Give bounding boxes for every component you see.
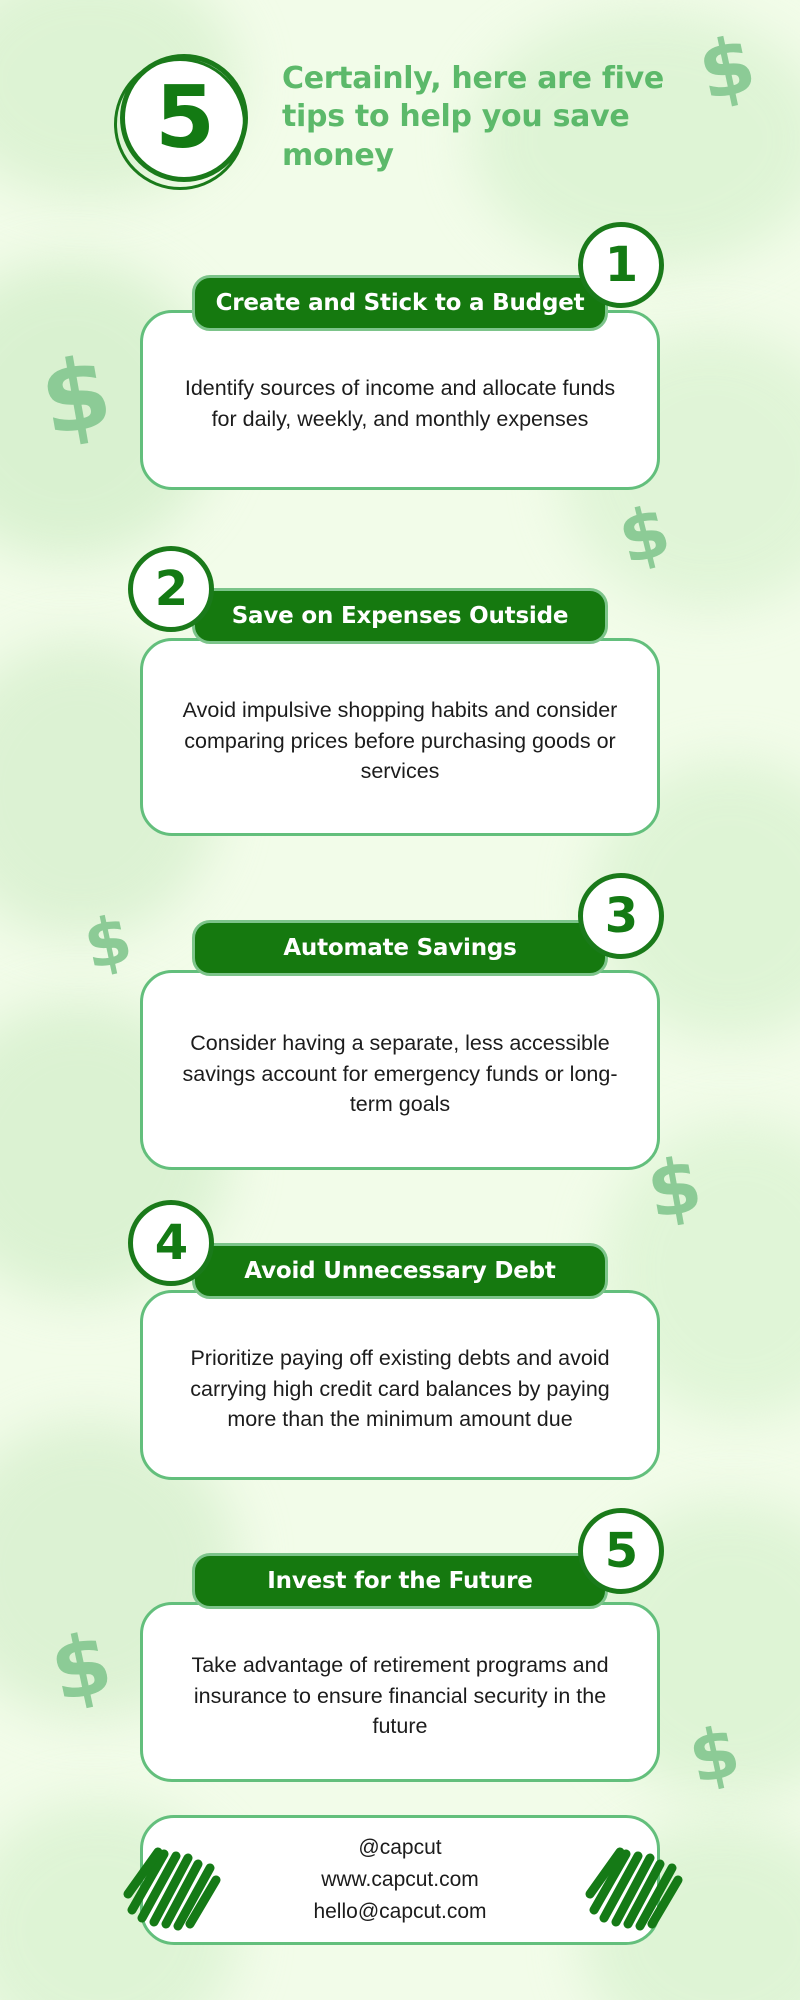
footer-website[interactable]: www.capcut.com: [321, 1864, 479, 1896]
tip-number-badge-1: 1: [578, 222, 664, 308]
footer-email[interactable]: hello@capcut.com: [313, 1896, 486, 1928]
tip-title-2: Save on Expenses Outside: [232, 603, 569, 629]
tip-header-pill-4[interactable]: Avoid Unnecessary Debt: [192, 1243, 608, 1299]
tip-badge-number-3: 3: [578, 873, 664, 959]
tip-badge-number-2: 2: [128, 546, 214, 632]
tip-body-text-5: Take advantage of retirement programs an…: [173, 1650, 627, 1742]
tip-number-badge-3: 3: [578, 873, 664, 959]
tip-body-text-3: Consider having a separate, less accessi…: [173, 1028, 627, 1120]
footer-handle[interactable]: @capcut: [358, 1832, 441, 1864]
tip-title-1: Create and Stick to a Budget: [216, 290, 585, 316]
tip-body-card-1: Identify sources of income and allocate …: [140, 310, 660, 490]
header: 5 Certainly, here are five tips to help …: [110, 48, 730, 208]
tip-number-badge-4: 4: [128, 1200, 214, 1286]
tip-body-card-3: Consider having a separate, less accessi…: [140, 970, 660, 1170]
tip-body-card-2: Avoid impulsive shopping habits and cons…: [140, 638, 660, 836]
tip-number-badge-5: 5: [578, 1508, 664, 1594]
tip-body-card-4: Prioritize paying off existing debts and…: [140, 1290, 660, 1480]
tip-header-pill-2[interactable]: Save on Expenses Outside: [192, 588, 608, 644]
tip-title-5: Invest for the Future: [267, 1568, 532, 1594]
footer-contact-card: @capcut www.capcut.com hello@capcut.com: [140, 1815, 660, 1945]
tip-badge-number-4: 4: [128, 1200, 214, 1286]
tip-title-3: Automate Savings: [283, 935, 516, 961]
tip-badge-number-1: 1: [578, 222, 664, 308]
page-title: Certainly, here are five tips to help yo…: [282, 60, 712, 175]
tip-header-pill-1[interactable]: Create and Stick to a Budget: [192, 275, 608, 331]
tip-number-badge-2: 2: [128, 546, 214, 632]
tip-header-pill-3[interactable]: Automate Savings: [192, 920, 608, 976]
tip-body-card-5: Take advantage of retirement programs an…: [140, 1602, 660, 1782]
hero-badge-number: 5: [120, 54, 248, 182]
tip-body-text-2: Avoid impulsive shopping habits and cons…: [173, 695, 627, 787]
tip-body-text-4: Prioritize paying off existing debts and…: [173, 1343, 627, 1435]
tip-body-text-1: Identify sources of income and allocate …: [173, 373, 627, 434]
tip-badge-number-5: 5: [578, 1508, 664, 1594]
tip-header-pill-5[interactable]: Invest for the Future: [192, 1553, 608, 1609]
hero-number-badge: 5: [120, 54, 248, 182]
tip-title-4: Avoid Unnecessary Debt: [244, 1258, 555, 1284]
infographic-page: 5 Certainly, here are five tips to help …: [0, 0, 800, 2000]
